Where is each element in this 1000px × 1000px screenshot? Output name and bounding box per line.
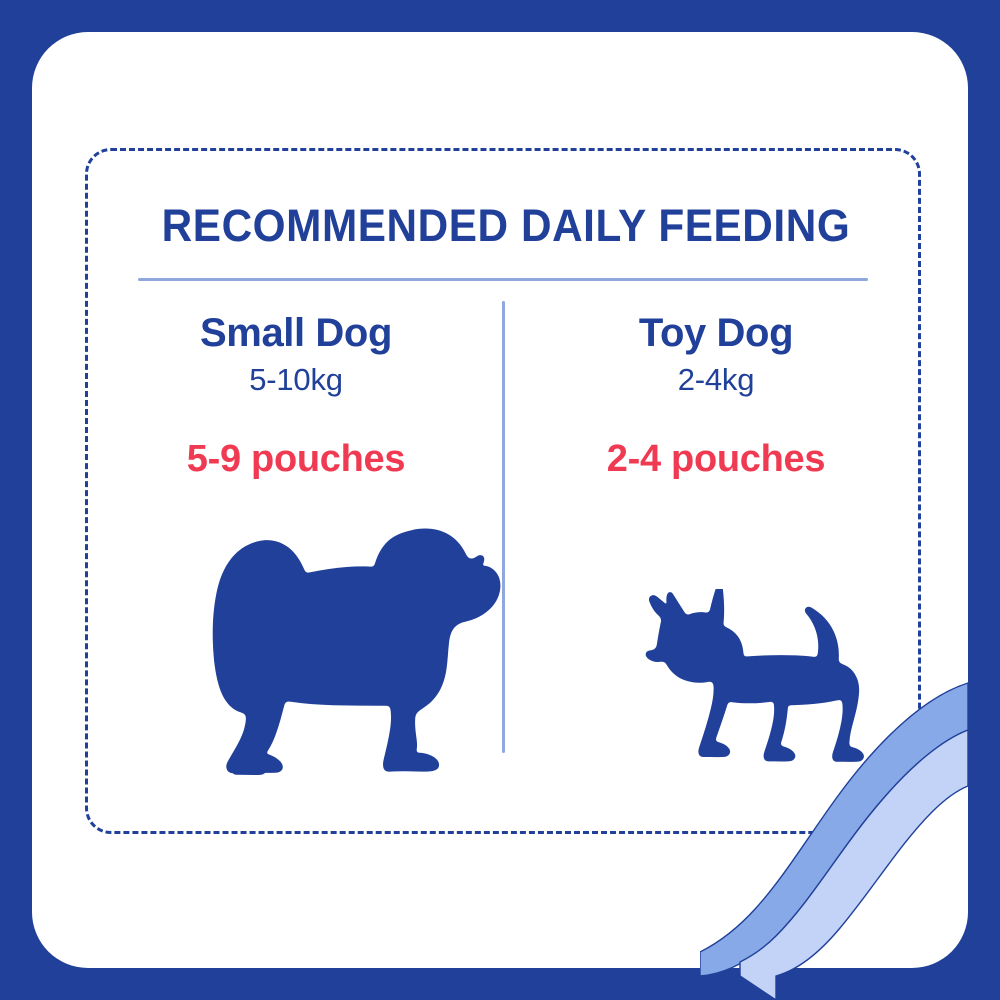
feeding-column-toy-dog: Toy Dog 2-4kg 2-4 pouches: [516, 309, 916, 482]
feeding-column-small-dog: Small Dog 5-10kg 5-9 pouches: [96, 309, 496, 482]
pouch-amount-small-dog: 5-9 pouches: [96, 436, 496, 482]
breed-weight-toy-dog: 2-4kg: [516, 359, 916, 400]
dashed-border-panel: RECOMMENDED DAILY FEEDING Small Dog 5-10…: [85, 148, 921, 834]
infographic-stage: RECOMMENDED DAILY FEEDING Small Dog 5-10…: [0, 0, 1000, 1000]
chihuahua-dog-silhouette-icon: [642, 589, 870, 777]
title-divider-rule: [138, 278, 868, 281]
pug-dog-silhouette-icon: [198, 525, 516, 777]
breed-name-small-dog: Small Dog: [96, 309, 496, 358]
breed-name-toy-dog: Toy Dog: [516, 309, 916, 358]
feeding-guide-card: RECOMMENDED DAILY FEEDING Small Dog 5-10…: [32, 32, 968, 968]
pouch-amount-toy-dog: 2-4 pouches: [516, 436, 916, 482]
breed-weight-small-dog: 5-10kg: [96, 359, 496, 400]
page-title: RECOMMENDED DAILY FEEDING: [113, 200, 899, 252]
